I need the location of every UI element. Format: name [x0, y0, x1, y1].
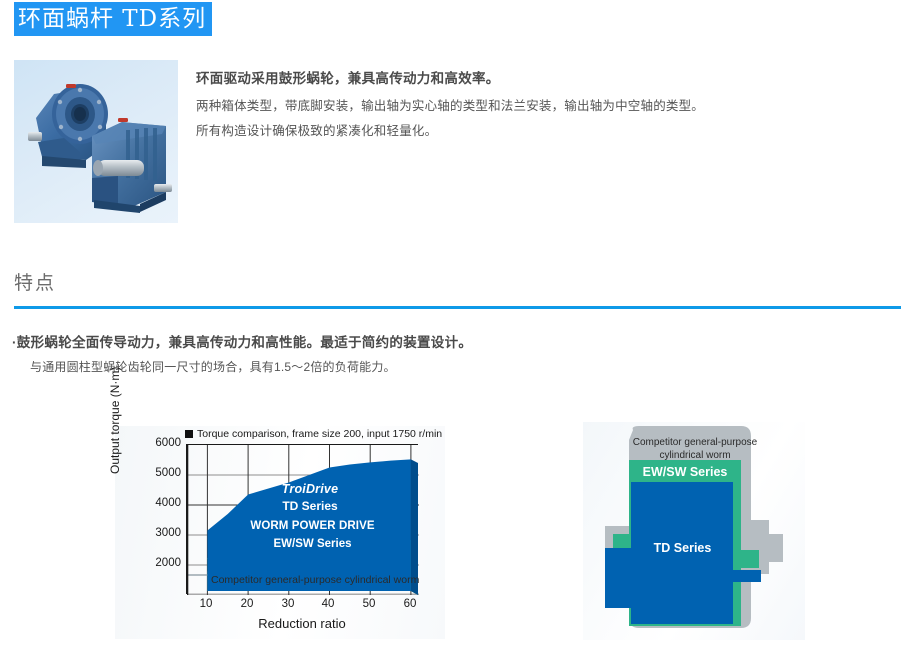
chart-xticks: 10 20 30 40 50 60 — [186, 598, 426, 614]
chart-label-worm-power: WORM POWER DRIVE — [225, 520, 400, 532]
intro-line-1: 两种箱体类型，带底脚安装，输出轴为实心轴的类型和法兰安装，输出轴为中空轴的类型。 — [196, 94, 904, 119]
gearbox-illustration — [14, 60, 178, 223]
chart-legend: Torque comparison, frame size 200, input… — [185, 428, 442, 440]
torque-comparison-chart: Torque comparison, frame size 200, input… — [115, 426, 445, 639]
chart-label-troidrive: TroiDrive — [265, 482, 355, 496]
intro-heading: 环面驱动采用鼓形蜗轮，兼具高传动力和高效率。 — [196, 68, 904, 90]
xtick-40: 40 — [315, 598, 341, 610]
size-comparison-diagram: Competitor general-purpose cylindrical w… — [583, 422, 805, 640]
chart-plot-area: TroiDrive TD Series WORM POWER DRIVE EW/… — [186, 444, 418, 594]
chart-label-td-series: TD Series — [265, 499, 355, 513]
diagram-label-ew-sw: EW/SW Series — [605, 465, 765, 479]
xtick-30: 30 — [275, 598, 301, 610]
chart-yticks: 6000 5000 4000 3000 2000 — [115, 444, 181, 594]
ytick-2000: 2000 — [155, 557, 181, 569]
product-photo — [14, 60, 178, 223]
intro-line-2: 所有构造设计确保极致的紧凑化和轻量化。 — [196, 119, 904, 144]
xtick-50: 50 — [356, 598, 382, 610]
ytick-6000: 6000 — [155, 437, 181, 449]
chart-xlabel: Reduction ratio — [186, 616, 418, 631]
chart-title: Torque comparison, frame size 200, input… — [197, 428, 442, 440]
ytick-5000: 5000 — [155, 467, 181, 479]
feature-main-text: ·鼓形蜗轮全面传导动力，兼具高传动力和高性能。最适于简约的装置设计。 — [12, 331, 472, 351]
xtick-20: 20 — [234, 598, 260, 610]
section-divider — [14, 306, 901, 309]
diagram-label-competitor-line1: Competitor general-purpose — [605, 436, 785, 449]
intro-section: 环面驱动采用鼓形蜗轮，兼具高传动力和高效率。 两种箱体类型，带底脚安装，输出轴为… — [14, 60, 904, 223]
diagram-label-td: TD Series — [605, 541, 760, 555]
intro-text: 环面驱动采用鼓形蜗轮，兼具高传动力和高效率。 两种箱体类型，带底脚安装，输出轴为… — [196, 60, 904, 144]
ytick-3000: 3000 — [155, 527, 181, 539]
chart-label-competitor: Competitor general-purpose cylindrical w… — [211, 574, 419, 586]
xtick-10: 10 — [193, 598, 219, 610]
ytick-4000: 4000 — [155, 497, 181, 509]
xtick-60: 60 — [397, 598, 423, 610]
features-heading: 特点 — [14, 268, 56, 295]
chart-label-ew-sw: EW/SW Series — [235, 538, 390, 550]
page-title: 环面蜗杆 TD系列 — [14, 2, 212, 36]
feature-sub-text: 与通用圆柱型蜗轮齿轮同一尺寸的场合，具有1.5～2倍的负荷能力。 — [30, 358, 396, 375]
diagram-label-competitor-line2: cylindrical worm — [605, 449, 785, 462]
legend-swatch-icon — [185, 430, 193, 438]
